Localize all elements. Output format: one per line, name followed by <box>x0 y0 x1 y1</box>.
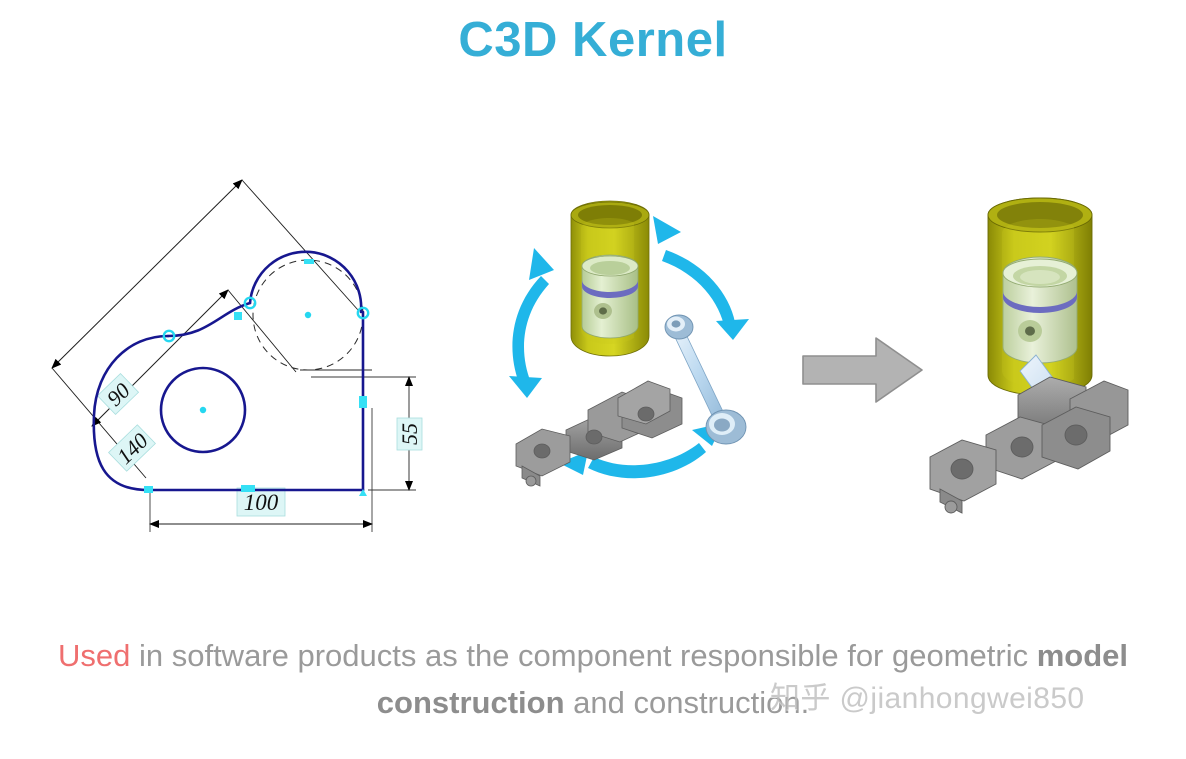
arrow-cylinder-to-crankshaft <box>509 248 554 398</box>
crankshaft-part <box>930 377 1128 513</box>
dimension-55: 55 <box>311 377 422 490</box>
dimension-value-55: 55 <box>397 423 422 445</box>
caption-used-word: Used <box>58 638 130 673</box>
dimension-100: 100 <box>150 408 372 532</box>
dimension-value-90: 90 <box>102 378 135 411</box>
slide-caption: Used in software products as the compone… <box>18 632 1168 726</box>
engine-components-cycle-figure <box>470 180 800 510</box>
cad-sketch-figure: 140 90 55 <box>28 160 448 540</box>
caption-part-2: and construction. <box>565 685 810 720</box>
assembled-engine-figure <box>890 185 1180 520</box>
dimension-value-100: 100 <box>244 490 279 515</box>
slide-canvas: C3D Kernel 140 <box>0 0 1186 759</box>
cylinder-with-piston-component <box>571 201 649 356</box>
dimension-140: 140 <box>52 180 358 478</box>
piston-part <box>1003 257 1077 363</box>
page-title: C3D Kernel <box>0 12 1186 68</box>
caption-part-1: in software products as the component re… <box>130 638 1036 673</box>
dimension-90: 90 <box>92 290 296 426</box>
